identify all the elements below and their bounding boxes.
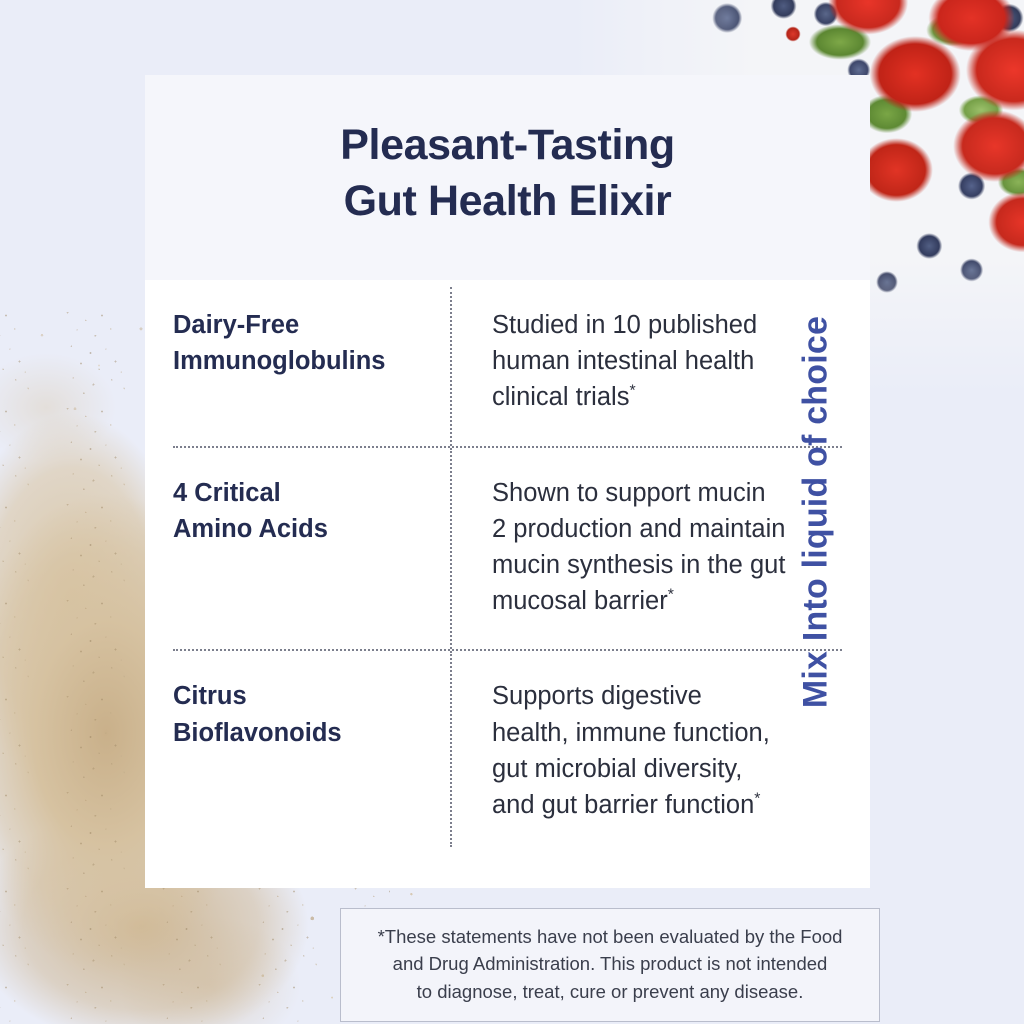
card-header: Pleasant-Tasting Gut Health Elixir [145,75,870,280]
feature-term: Citrus Bioflavonoids [173,678,450,750]
product-infographic: Pleasant-Tasting Gut Health Elixir Dairy… [0,0,1024,1024]
feature-description-text: Studied in 10 published human intestinal… [492,311,757,411]
feature-row: Dairy-Free Immunoglobulins Studied in 10… [173,280,842,446]
mix-instruction-caption: Mix Into liquid of choice [796,316,835,708]
disclaimer-box: *These statements have not been evaluate… [340,908,880,1022]
feature-description: Studied in 10 published human intestinal… [452,307,842,416]
feature-term: Dairy-Free Immunoglobulins [173,307,450,379]
feature-description-text: Shown to support mucin 2 production and … [492,479,785,616]
benefits-card: Pleasant-Tasting Gut Health Elixir Dairy… [145,75,870,888]
footnote-marker: * [629,383,635,400]
feature-term: 4 Critical Amino Acids [173,475,450,547]
footnote-marker: * [668,587,674,604]
feature-row: 4 Critical Amino Acids Shown to support … [173,446,842,650]
feature-row: Citrus Bioflavonoids Supports digestive … [173,649,842,853]
benefits-list: Dairy-Free Immunoglobulins Studied in 10… [145,280,870,853]
feature-description-text: Supports digestive health, immune functi… [492,682,770,819]
feature-description: Shown to support mucin 2 production and … [452,475,842,620]
footnote-marker: * [754,791,760,808]
feature-description: Supports digestive health, immune functi… [452,678,842,823]
disclaimer-text: *These statements have not been evaluate… [363,923,857,1005]
page-title: Pleasant-Tasting Gut Health Elixir [340,118,675,228]
